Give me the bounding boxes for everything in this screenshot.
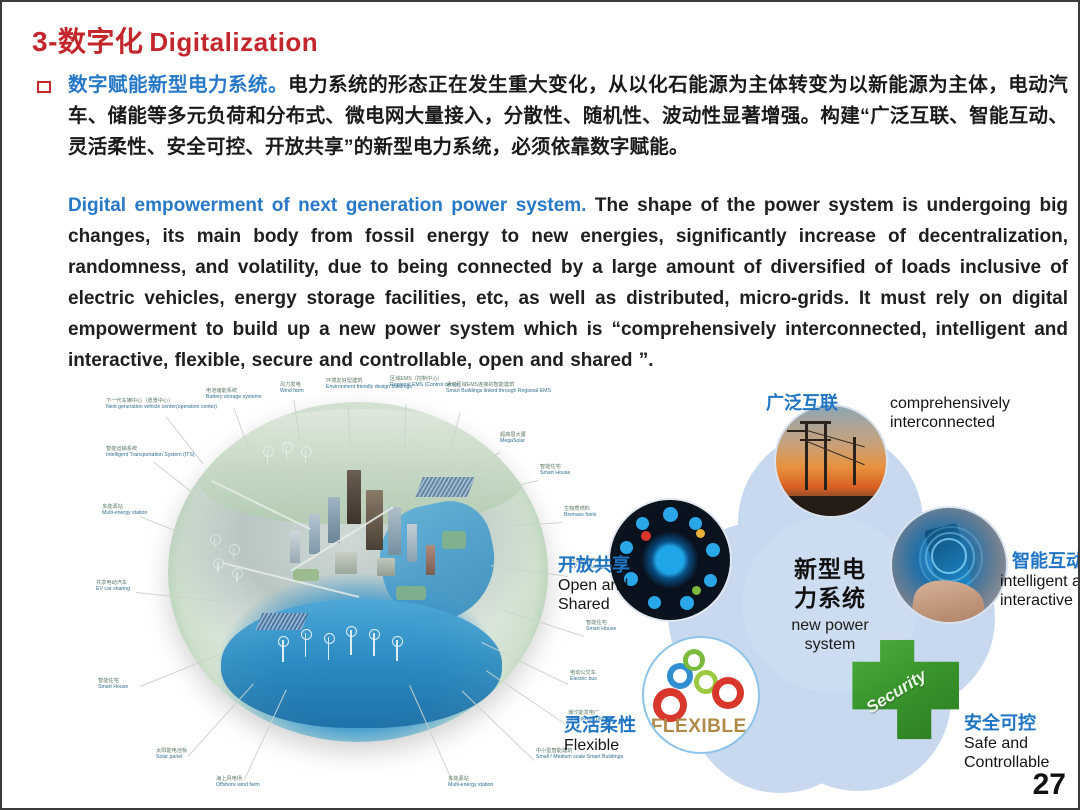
gear-green [683, 649, 705, 671]
english-paragraph: Digital empowerment of next generation p… [68, 190, 1068, 376]
caption-flexible: 灵活柔性 Flexible [564, 714, 636, 755]
slide: 3-数字化Digitalization 数字赋能新型电力系统。电力系统的形态正在… [0, 0, 1080, 810]
gears-icon[interactable]: FLEXIBLE [642, 636, 760, 754]
network-dot [648, 596, 661, 609]
caption-en-line2: interactive [1000, 591, 1080, 610]
english-lead: Digital empowerment of next generation p… [68, 195, 586, 216]
caption-interactive: 智能互动 intelligent and interactive [1012, 550, 1080, 610]
caption-interconnected: 广泛互联 comprehensively interconnected [832, 392, 1010, 432]
pylon-part [800, 439, 831, 441]
network-dot [680, 596, 694, 610]
caption-cn: 安全可控 [964, 712, 1049, 734]
chinese-lead: 数字赋能新型电力系统。 [68, 74, 288, 96]
city-map-label-en: Biomass fuels [564, 512, 596, 518]
city-map-label: 海上风电场Offshore wind farm [216, 776, 260, 789]
security-key-icon[interactable]: Security [842, 630, 972, 754]
new-power-system-diagram: 新型电 力系统 new power system [614, 394, 1080, 810]
page-title: 3-数字化Digitalization [32, 20, 318, 60]
smartphone-icon[interactable] [890, 506, 1008, 624]
city-map-label: 下一代车辆中心（愿景中心）Next generation vehicle cen… [106, 398, 217, 411]
city-map-label: 电动公交车Electric bus [570, 670, 597, 683]
city-map-label: 智能运输系统Intelligent Transportation System … [106, 446, 195, 459]
flexible-word-label: FLEXIBLE [651, 716, 747, 738]
caption-en-line2: interconnected [890, 413, 1010, 432]
caption-secure: 安全可控 Safe and Controllable [964, 712, 1049, 772]
city-map-label: 共享电动汽车EV car sharing [96, 580, 130, 593]
pylon-part [805, 421, 808, 489]
city-map-label: 智能住宅Smart House [586, 620, 616, 633]
bullet-square-icon [37, 81, 51, 93]
city-map-label: 多能源站Multi-energy station [448, 776, 493, 789]
core-label-cn: 新型电 力系统 [794, 555, 866, 613]
caption-en-line1: Open and [558, 576, 630, 595]
pylon-part [824, 421, 827, 489]
city-map-label-en: Smart Buildings linked through Regional … [446, 388, 551, 394]
city-map-label: 生物质燃料Biomass fuels [564, 506, 596, 519]
caption-en-line1: intelligent and [1000, 572, 1080, 591]
caption-cn: 开放共享 [558, 554, 630, 576]
network-dot-accent [641, 531, 651, 541]
chinese-paragraph: 数字赋能新型电力系统。电力系统的形态正在发生重大变化，从以化石能源为主体转变为以… [68, 70, 1068, 163]
city-map-label-en: Wind farm [280, 388, 304, 394]
city-map-label-en: Multi-energy station [448, 782, 493, 788]
caption-cn: 灵活柔性 [564, 714, 636, 736]
hand-shape [910, 576, 987, 624]
page-number: 27 [1033, 768, 1066, 802]
core-cn-line2: 力系统 [794, 585, 866, 611]
city-map-label-en: Small / Medium scale Smart Buildings [536, 754, 623, 760]
leader-line [188, 683, 254, 756]
leader-line [462, 691, 535, 761]
city-disc [168, 402, 548, 742]
city-map-label-en: Solar panel [156, 754, 187, 760]
city-map-label-en: Smart House [98, 684, 128, 690]
city-map-label: 电池储能系统Battery storage systems [206, 388, 262, 401]
network-dot-accent [692, 586, 701, 595]
caption-open-shared: 开放共享 Open and Shared [558, 554, 630, 614]
network-dot [689, 517, 702, 530]
network-dot [620, 541, 633, 554]
city-map-label-en: MegaSolar [500, 438, 526, 444]
caption-en-line2: Controllable [964, 753, 1049, 772]
caption-en-line1: comprehensively [890, 394, 1010, 413]
city-map-label-en: Multi-energy station [102, 510, 147, 516]
gear-crimson [712, 677, 744, 709]
core-cn-line1: 新型电 [794, 556, 866, 582]
english-body: The shape of the power system is undergo… [68, 195, 1068, 371]
city-map-label-en: EV car sharing [96, 586, 130, 592]
city-map-label-en: Offshore wind farm [216, 782, 260, 788]
city-map-label-en: Intelligent Transportation System (ITS) [106, 452, 195, 458]
network-dot [706, 543, 720, 557]
city-map-label: 太阳能电池板Solar panel [156, 748, 187, 761]
city-map-label: 智能住宅Smart House [540, 464, 570, 477]
caption-en-line2: Shared [558, 595, 630, 614]
page-title-cn: 3-数字化 [32, 26, 143, 57]
caption-en-line1: Safe and [964, 734, 1049, 753]
city-map-label: 智能住宅Smart House [98, 678, 128, 691]
city-map-label-en: Electric bus [570, 676, 597, 682]
city-map-label-en: Next generation vehicle center(operation… [106, 404, 217, 410]
caption-en-line1: Flexible [564, 736, 636, 755]
pylon-part [787, 430, 805, 432]
network-dot [704, 574, 717, 587]
city-map-label: 通过区域EMS连接的智能建筑Smart Buildings linked thr… [446, 382, 551, 395]
city-map-label-en: Smart House [540, 470, 570, 476]
page-title-en: Digitalization [149, 27, 318, 57]
network-dot [636, 517, 649, 530]
network-dot-accent [696, 529, 705, 538]
network-dot [663, 507, 678, 522]
ground-silhouette [776, 496, 886, 516]
city-map-label-en: Battery storage systems [206, 394, 262, 400]
city-map-label: 多能源站Multi-energy station [102, 504, 147, 517]
city-map-label: 超高层大厦MegaSolar [500, 432, 526, 445]
pylon-part [800, 421, 831, 424]
caption-cn: 智能互动 [1012, 550, 1080, 572]
city-map-label: 风力发电Wind farm [280, 382, 304, 395]
city-map-label-en: Smart House [586, 626, 616, 632]
disc-green-ring [168, 402, 548, 742]
smart-city-illustration: 下一代车辆中心（愿景中心）Next generation vehicle cen… [48, 380, 608, 800]
